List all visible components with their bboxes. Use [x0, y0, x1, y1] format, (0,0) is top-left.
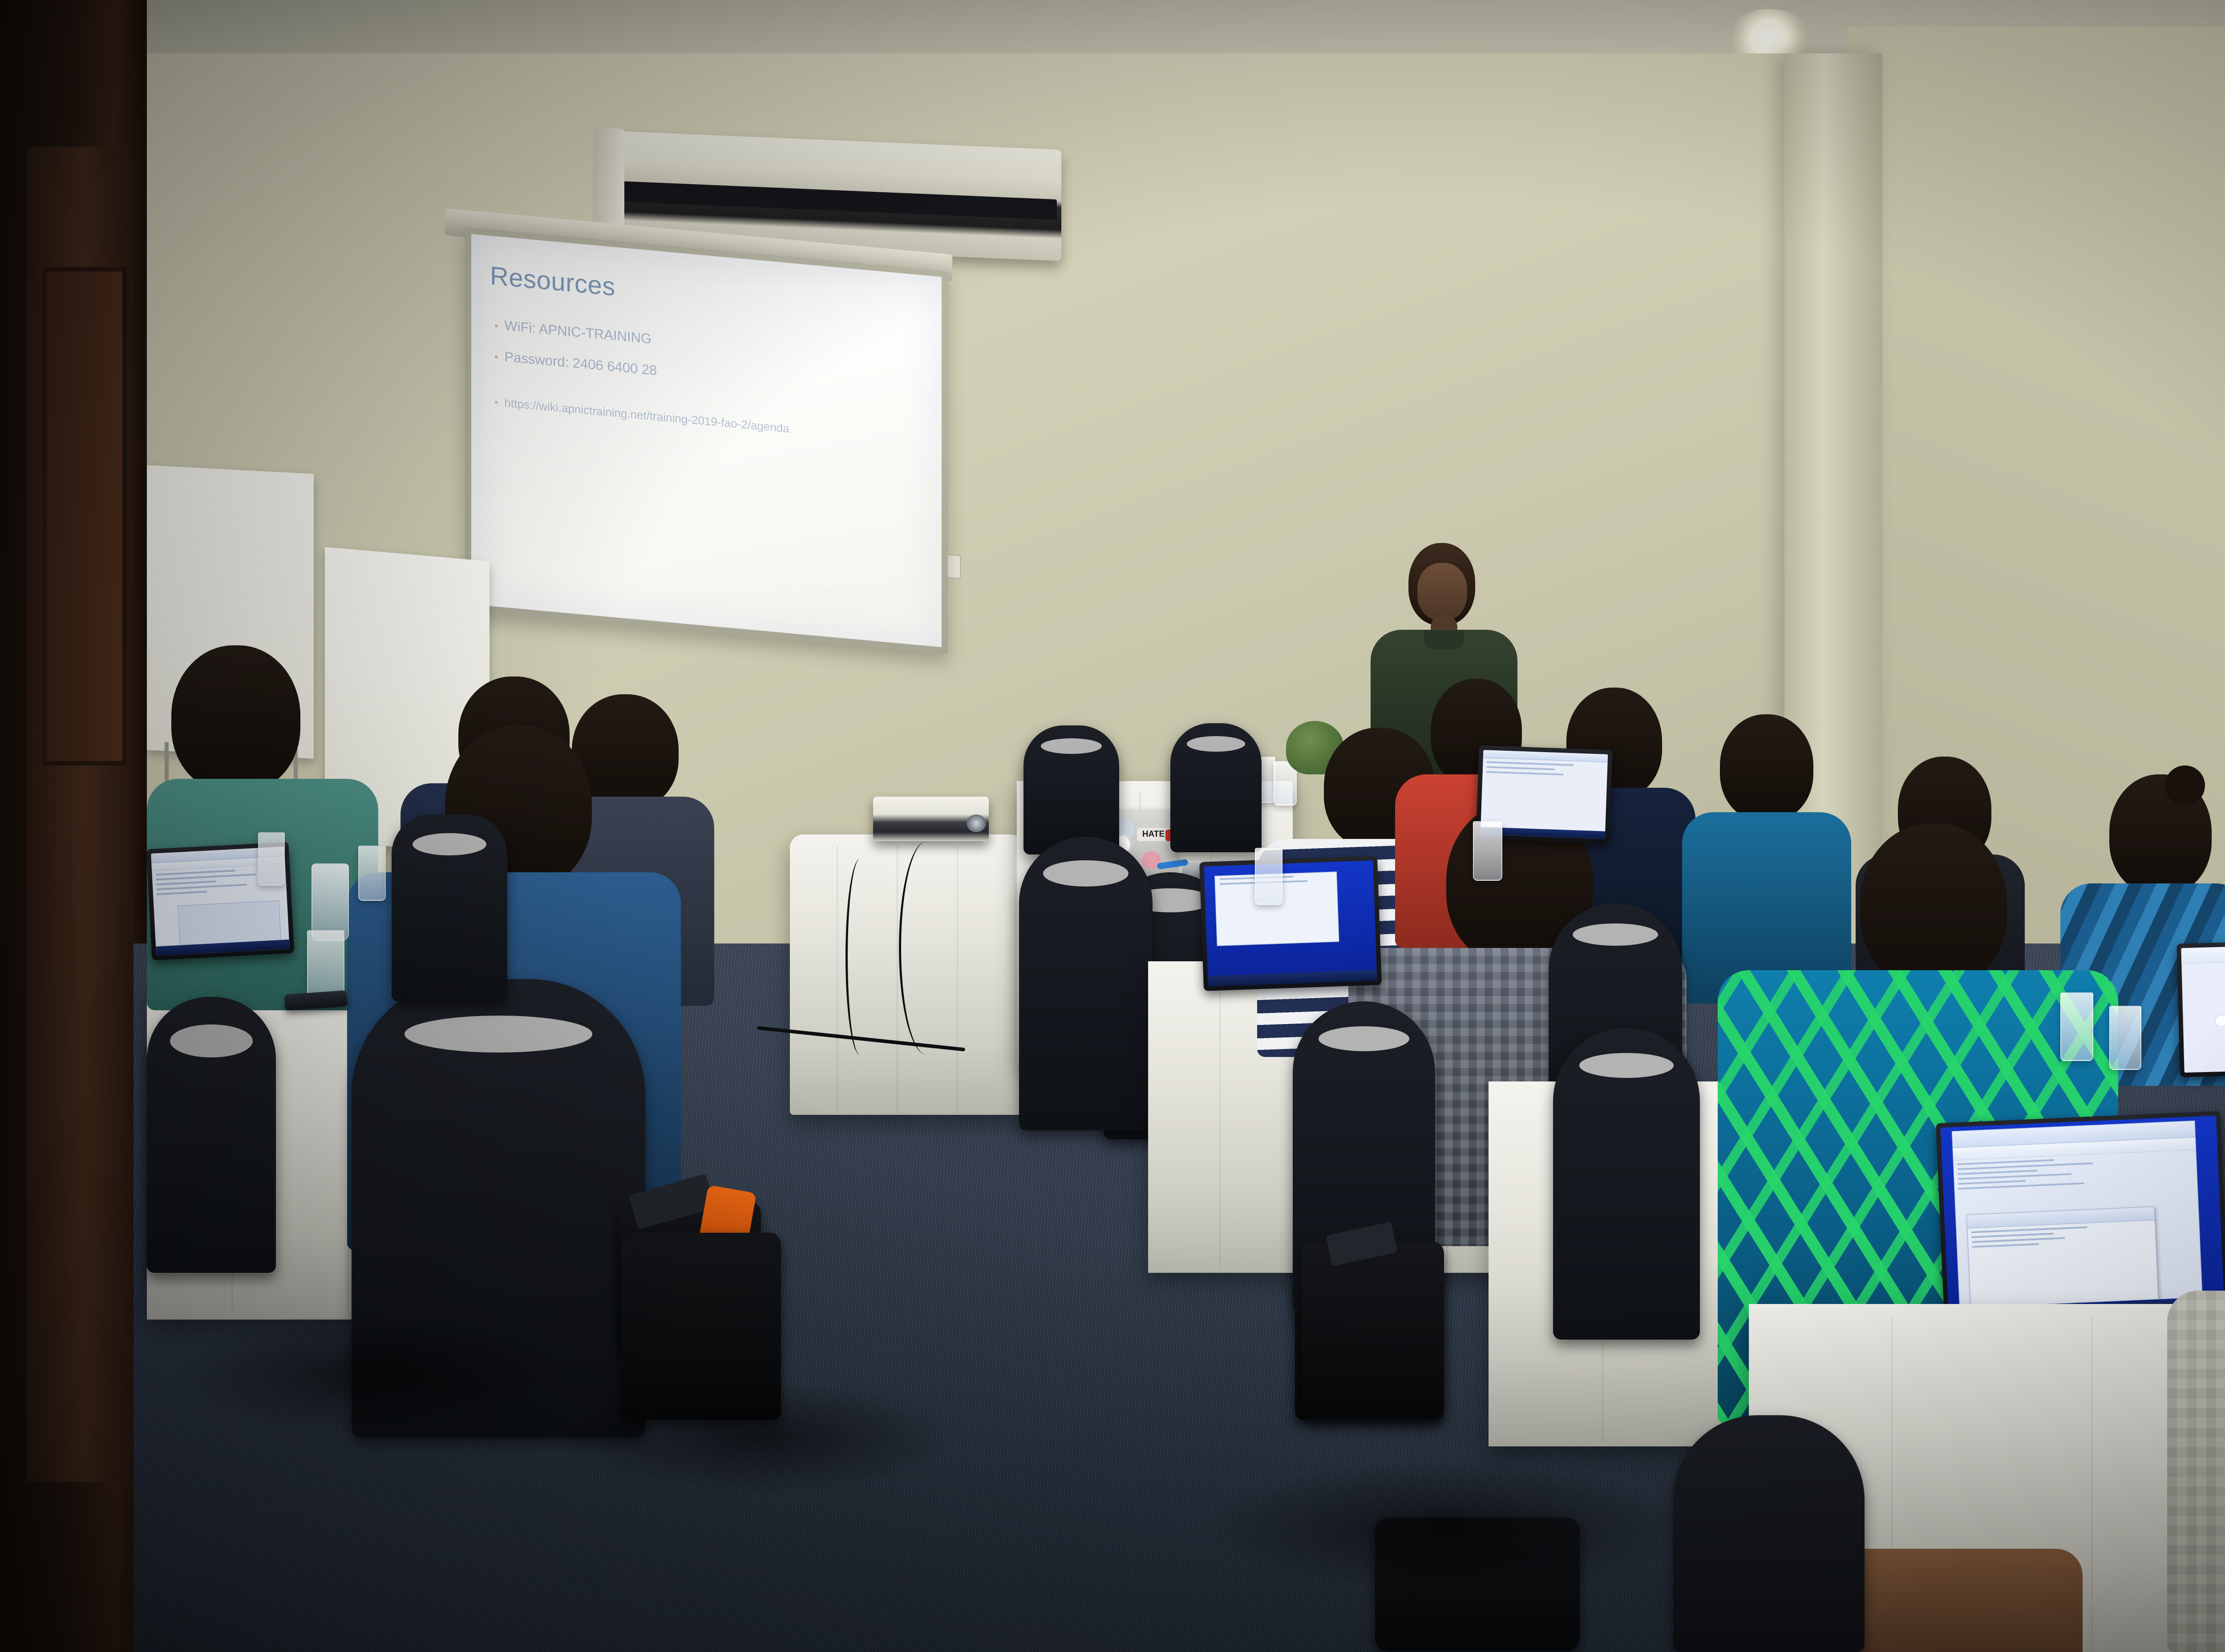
laptop-screen[interactable]: [1204, 860, 1377, 986]
water-glass: [358, 846, 386, 901]
presenter-collar: [1424, 630, 1464, 650]
conference-room: Resources WiFi: APNIC-TRAINING Password:…: [0, 0, 2225, 1652]
taskbar[interactable]: [1208, 970, 1377, 987]
water-glass: [1255, 848, 1282, 905]
water-jug: [311, 863, 349, 941]
projection-screen: Resources WiFi: APNIC-TRAINING Password:…: [465, 227, 948, 654]
water-glass: [2109, 1006, 2141, 1070]
backpack[interactable]: [1302, 1242, 1444, 1420]
laptop-center-mid[interactable]: [1199, 856, 1382, 991]
hair-bun: [2165, 765, 2205, 806]
water-glass: [1473, 821, 1502, 881]
chair-back-slot: [1579, 1053, 1673, 1078]
water-glass: [307, 930, 344, 999]
laptop-google[interactable]: Google: [2176, 939, 2225, 1077]
slide-title: Resources: [490, 261, 930, 331]
projector-cable: [899, 841, 955, 1055]
slide-bullet-list: WiFi: APNIC-TRAINING Password: 2406 6400…: [494, 317, 930, 449]
chair[interactable]: [1553, 1028, 1700, 1340]
chair-back-slot: [1043, 860, 1129, 887]
participant-torso: [2167, 1291, 2225, 1652]
laptop-lid: [1199, 856, 1382, 991]
left-door-panel: [42, 267, 127, 765]
chair-back-slot: [1041, 738, 1102, 754]
browser-toolbar[interactable]: [2181, 943, 2225, 964]
google-search-box[interactable]: [2215, 1013, 2225, 1027]
presentation-slide: Resources WiFi: APNIC-TRAINING Password:…: [490, 261, 930, 634]
power-cable: [845, 859, 874, 1055]
participant-head: [1860, 823, 2007, 988]
sticker-hate-text: HATE: [1137, 828, 1170, 841]
sticker-label: HATE: [1142, 830, 1165, 839]
chair-back-slot: [1319, 1026, 1410, 1051]
water-glass: [2060, 992, 2093, 1061]
participant-head: [171, 645, 300, 792]
water-glass: [258, 832, 285, 886]
chair-back-slot: [1187, 736, 1245, 752]
window-front-dialog[interactable]: [1966, 1207, 2159, 1308]
chair-back-slot: [405, 1016, 592, 1052]
presenter-face: [1417, 563, 1467, 621]
participant-head: [1720, 714, 1813, 821]
participant-foreground-right: [2167, 1059, 2225, 1652]
photograph-scene: Resources WiFi: APNIC-TRAINING Password:…: [0, 0, 2225, 1652]
chair[interactable]: [1019, 837, 1153, 1130]
chair[interactable]: [147, 997, 276, 1273]
chair[interactable]: [392, 814, 507, 1001]
chair[interactable]: [1673, 1415, 1865, 1652]
chair-back-slot: [413, 833, 486, 855]
chair-back-slot: [1573, 923, 1658, 946]
window-titlebar: [1483, 750, 1608, 762]
slide-link: https://wiki.apnictraining.net/training-…: [494, 395, 930, 449]
chair-back-slot: [170, 1024, 253, 1057]
google-logo: Google: [2182, 981, 2225, 999]
laptop-screen[interactable]: Google: [2181, 943, 2225, 1073]
chair[interactable]: [1023, 725, 1119, 854]
chair[interactable]: [1170, 723, 1262, 852]
projection-screen-surface: Resources WiFi: APNIC-TRAINING Password:…: [471, 234, 942, 647]
projector-lens: [967, 814, 986, 832]
laptop-lid: Google: [2176, 939, 2225, 1077]
